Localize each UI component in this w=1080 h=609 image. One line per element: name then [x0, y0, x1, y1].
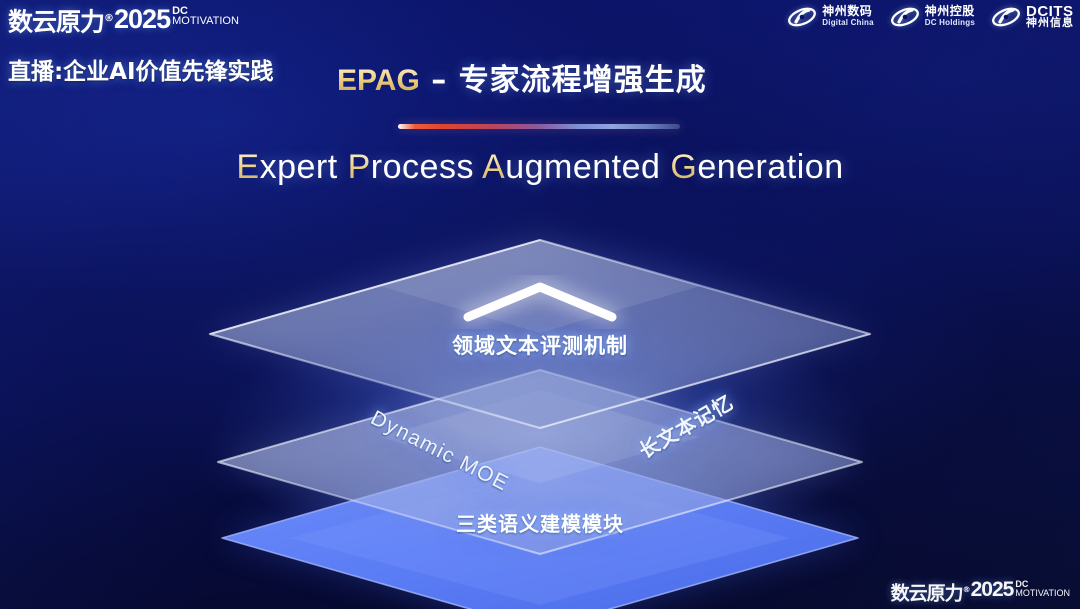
brand-lockup-top-left: 数云原力® 2025 DC MOTIVATION — [8, 4, 239, 37]
headline-chinese: 专家流程增强生成 — [459, 63, 707, 98]
brand-name-cn: 数云原力® — [891, 578, 970, 605]
brand-dc-line2: MOTIVATION — [172, 16, 239, 26]
brand-year: 2025 — [971, 578, 1014, 601]
live-stream-title: 直播:企业AI价值先锋实践 — [8, 52, 274, 86]
registered-mark: ® — [963, 585, 970, 594]
headline-separator: – — [420, 63, 459, 98]
registered-mark: ® — [104, 13, 113, 24]
logo-digital-china: 神州数码 Digital China — [787, 5, 874, 29]
subtitle-cap-a: A — [482, 148, 505, 186]
logo-text-block: DCITS 神州信息 — [1026, 6, 1074, 28]
brand-dc-motivation: DC MOTIVATION — [1015, 580, 1070, 598]
gradient-divider — [398, 124, 680, 129]
subtitle-cap-e: E — [236, 148, 259, 186]
brand-dc-line2: MOTIVATION — [1015, 589, 1070, 598]
subtitle-cap-p: P — [348, 148, 371, 186]
brand-dc-motivation: DC MOTIVATION — [172, 6, 239, 26]
page-title: EPAG – 专家流程增强生成 — [337, 55, 707, 99]
logo-label-en: DC Holdings — [925, 17, 975, 28]
logo-text-block: 神州数码 Digital China — [822, 6, 874, 28]
logo-label-en: Digital China — [822, 17, 874, 28]
brand-lockup-bottom-right: 数云原力® 2025 DC MOTIVATION — [891, 578, 1070, 605]
logo-dc-holdings: 神州控股 DC Holdings — [890, 5, 975, 29]
logo-label-cn: 神州控股 — [925, 6, 975, 17]
swirl-logo-icon — [991, 5, 1021, 29]
subtitle-word-expert: xpert — [260, 148, 348, 186]
logo-text-block: 神州控股 DC Holdings — [925, 6, 975, 28]
subtitle-word-process: rocess — [371, 148, 482, 186]
subtitle-word-generation: eneration — [697, 148, 843, 186]
logo-dcits: DCITS 神州信息 — [991, 5, 1074, 29]
subtitle-cap-g: G — [670, 148, 697, 186]
swirl-logo-icon — [890, 5, 920, 29]
brand-name-cn: 数云原力® — [8, 4, 113, 37]
partner-logo-group: 神州数码 Digital China 神州控股 DC Holdings — [787, 5, 1074, 29]
layer-stack-diagram: 领域文本评测机制 Dynamic MOE 长文本记忆 三类语义建模模块 — [0, 215, 1080, 585]
headline-acronym: EPAG — [337, 64, 420, 97]
subtitle-word-augmented: ugmented — [505, 148, 670, 186]
slide-canvas: 数云原力® 2025 DC MOTIVATION 直播:企业AI价值先锋实践 神… — [0, 0, 1080, 609]
swirl-logo-icon — [787, 5, 817, 29]
brand-year: 2025 — [114, 4, 170, 34]
logo-label-cn: 神州信息 — [1026, 17, 1074, 28]
logo-label-cn: 神州数码 — [822, 6, 874, 17]
page-subtitle: Expert Process Augmented Generation — [0, 148, 1080, 187]
